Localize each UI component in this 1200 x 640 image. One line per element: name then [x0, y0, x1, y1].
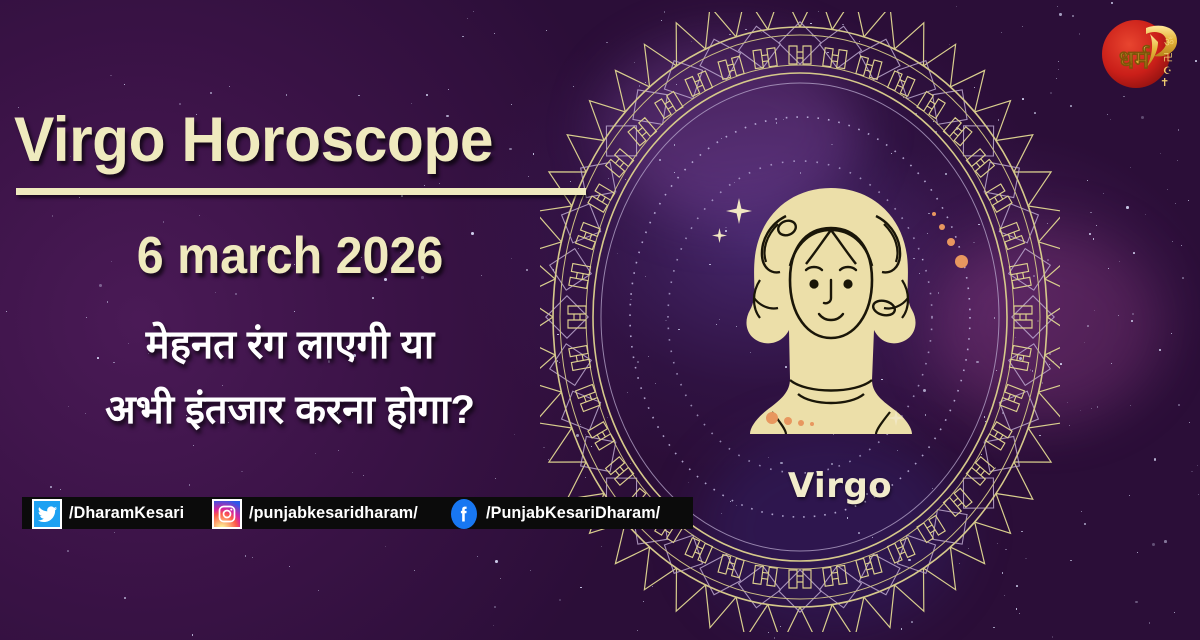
page-title: Virgo Horoscope: [14, 108, 571, 172]
om-icon: ॐ: [1164, 36, 1174, 49]
virgo-maiden-icon: [726, 180, 936, 440]
subtitle-line-2: अभी इंतजार करना होगा?: [0, 390, 580, 430]
sparkle-icon: [888, 410, 904, 431]
sparkle-icon: [726, 198, 752, 229]
orbit-dots: [766, 410, 830, 432]
social-links-bar: /DharamKesari /punjabkesaridharam/: [22, 497, 693, 529]
social-link-twitter[interactable]: /DharamKesari: [22, 497, 202, 529]
social-link-instagram[interactable]: /punjabkesaridharam/: [202, 497, 439, 529]
social-link-facebook[interactable]: /PunjabKesariDharam/: [439, 497, 681, 529]
logo-brand-text: धर्म: [1119, 45, 1150, 74]
zodiac-name-label: Virgo: [690, 466, 990, 506]
horoscope-banner: Virgo Virgo Horoscope 6 march 2026 मेहनत…: [0, 0, 1200, 640]
title-underline: [16, 188, 586, 195]
swastika-icon: 卍: [1163, 52, 1173, 64]
social-handle-twitter: /DharamKesari: [69, 503, 196, 523]
orbit-dots: [928, 212, 988, 284]
horoscope-date: 6 march 2026: [20, 230, 559, 282]
facebook-icon[interactable]: [449, 499, 479, 529]
social-handle-instagram: /punjabkesaridharam/: [249, 503, 429, 523]
twitter-icon[interactable]: [32, 499, 62, 529]
dharm-logo[interactable]: धर्म ॐ 卍 ☪ ✝: [1092, 6, 1184, 98]
social-handle-facebook: /PunjabKesariDharam/: [486, 503, 672, 523]
sparkle-icon: [712, 228, 727, 248]
instagram-icon[interactable]: [212, 499, 242, 529]
text-column: Virgo Horoscope 6 march 2026 मेहनत रंग ल…: [0, 0, 600, 640]
cross-icon: ✝: [1160, 76, 1169, 89]
subtitle-line-1: मेहनत रंग लाएगी या: [0, 325, 580, 365]
